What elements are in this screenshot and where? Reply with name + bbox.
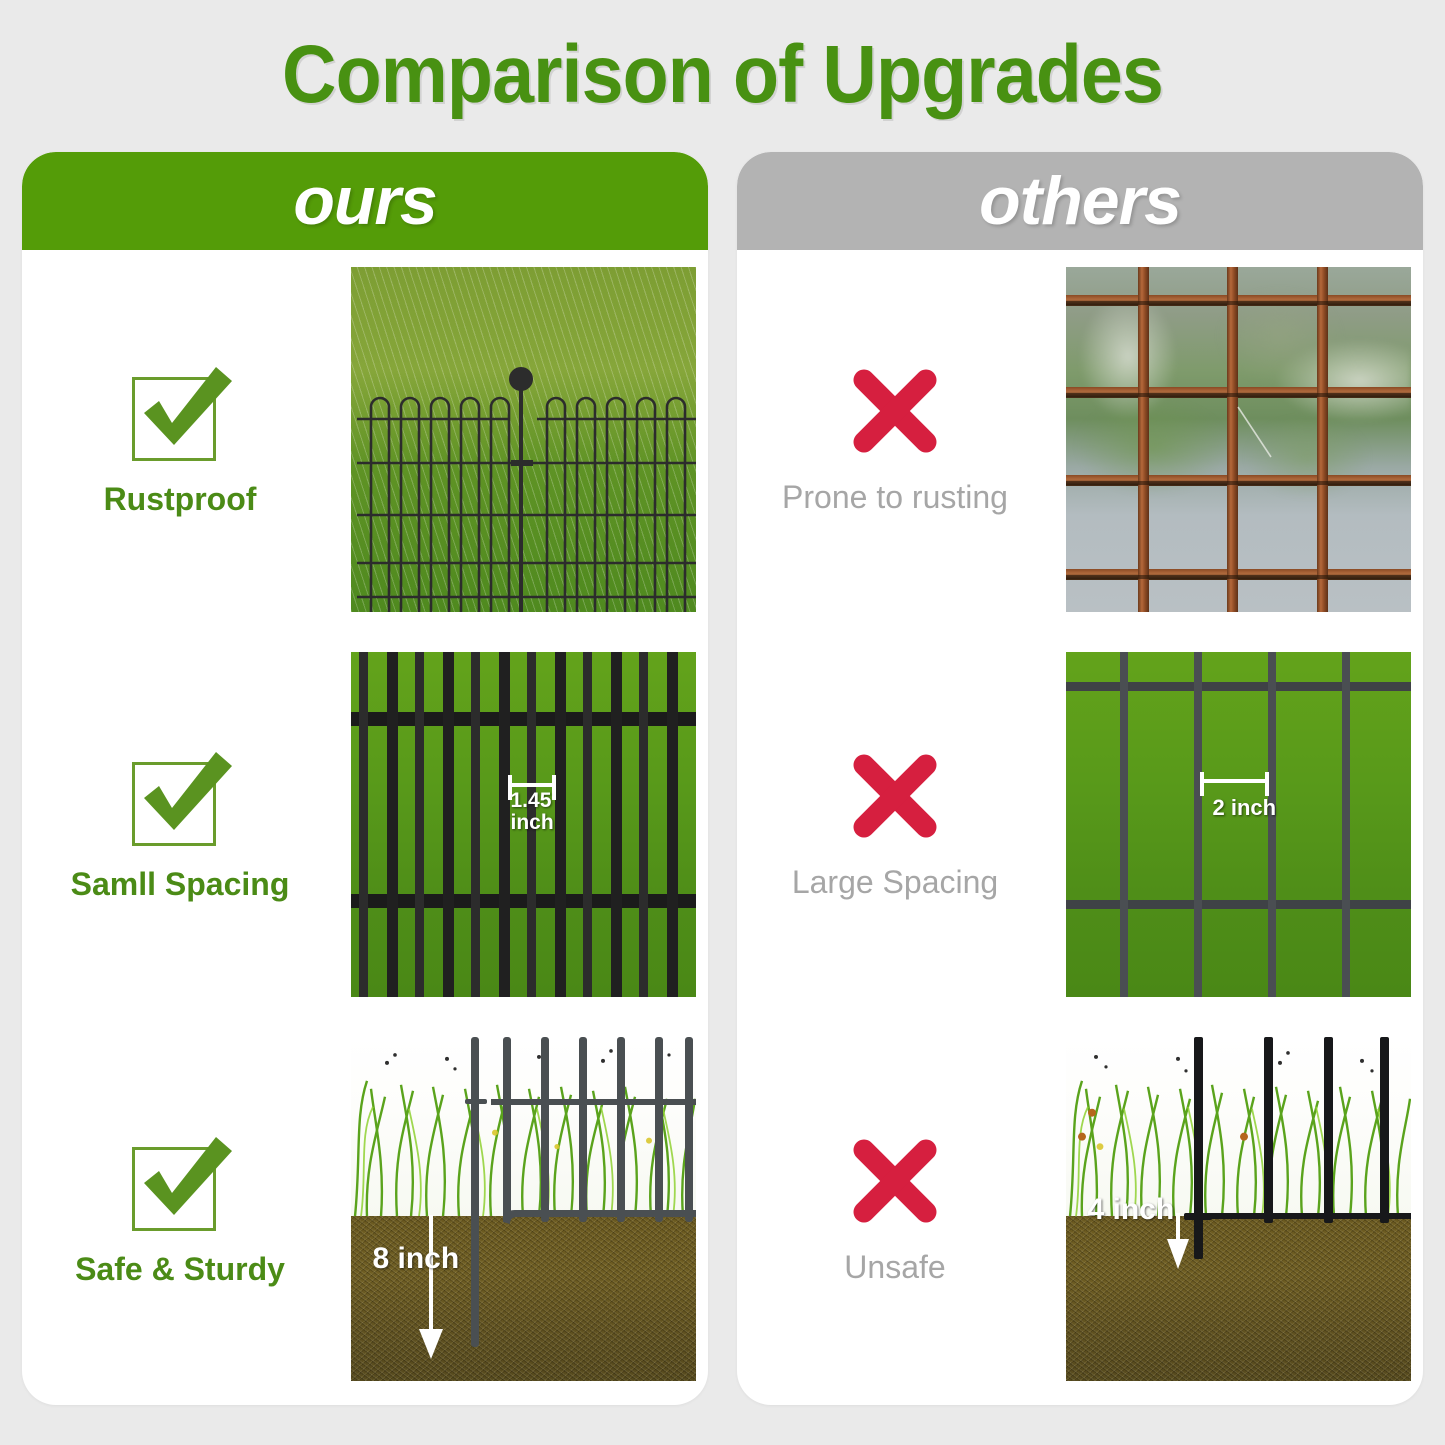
page-title: Comparison of Upgrades [58, 28, 1387, 122]
check-mark-icon [124, 361, 236, 461]
feature-small-spacing: Samll Spacing [22, 746, 338, 903]
panel-others: others Prone to rusting [737, 152, 1423, 1405]
feature-prone-to-rusting: Prone to rusting [737, 363, 1053, 516]
row-large-spacing: Large Spacing [737, 635, 1423, 1013]
check-mark-icon [124, 1131, 236, 1231]
x-icon [847, 748, 943, 844]
panel-header-label-others: others [979, 162, 1181, 240]
feature-label-large-spacing: Large Spacing [792, 864, 998, 901]
feature-safe-sturdy: Safe & Sturdy [22, 1131, 338, 1288]
feature-unsafe: Unsafe [737, 1133, 1053, 1286]
media-unsafe: 4 inch [1053, 1037, 1423, 1382]
x-icon [847, 363, 943, 459]
media-prone-to-rusting [1053, 267, 1423, 612]
rusty-wire-grid [1066, 267, 1411, 612]
panel-body-others: Prone to rusting [737, 250, 1423, 1398]
check-icon [124, 361, 236, 461]
row-rustproof: Rustproof [22, 250, 708, 628]
small-spacing-photo: 1.45 inch [351, 652, 696, 997]
dimension-callout-1-45-inch: 1.45 inch [511, 790, 554, 835]
rusty-mesh-photo [1066, 267, 1411, 612]
row-small-spacing: Samll Spacing [22, 635, 708, 1013]
panel-header-label-ours: ours [293, 162, 436, 240]
rain-fence-photo [351, 267, 696, 612]
feature-label-prone-to-rusting: Prone to rusting [782, 479, 1008, 516]
large-spacing-photo: 2 inch [1066, 652, 1411, 997]
feature-label-safe-sturdy: Safe & Sturdy [75, 1251, 285, 1288]
row-prone-to-rusting: Prone to rusting [737, 250, 1423, 628]
check-icon [124, 1131, 236, 1231]
feature-label-small-spacing: Samll Spacing [71, 866, 290, 903]
x-icon [847, 1133, 943, 1229]
fence-stakes-illustration [351, 1037, 696, 1382]
dimension-callout-4-inch: 4 inch [1088, 1194, 1175, 1226]
check-mark-icon [124, 746, 236, 846]
panel-body-ours: Rustproof [22, 250, 708, 1398]
feature-rustproof: Rustproof [22, 361, 338, 518]
panel-header-others: others [737, 152, 1423, 250]
row-safe-sturdy: Safe & Sturdy [22, 1020, 708, 1398]
deep-stake-soil-photo: 8 inch [351, 1037, 696, 1382]
wide-bars-illustration [1066, 652, 1411, 997]
media-small-spacing: 1.45 inch [338, 652, 708, 997]
media-rustproof [338, 267, 708, 612]
media-safe-sturdy: 8 inch [338, 1037, 708, 1382]
panel-header-ours: ours [22, 152, 708, 250]
feature-label-unsafe: Unsafe [844, 1249, 945, 1286]
fence-illustration [351, 267, 696, 612]
check-icon [124, 746, 236, 846]
feature-large-spacing: Large Spacing [737, 748, 1053, 901]
shallow-stake-soil-photo: 4 inch [1066, 1037, 1411, 1382]
panel-ours: ours Rustproof [22, 152, 708, 1405]
row-unsafe: Unsafe [737, 1020, 1423, 1398]
media-large-spacing: 2 inch [1053, 652, 1423, 997]
feature-label-rustproof: Rustproof [104, 481, 257, 518]
dimension-callout-8-inch: 8 inch [373, 1243, 460, 1275]
dimension-callout-2-inch: 2 inch [1213, 796, 1277, 820]
